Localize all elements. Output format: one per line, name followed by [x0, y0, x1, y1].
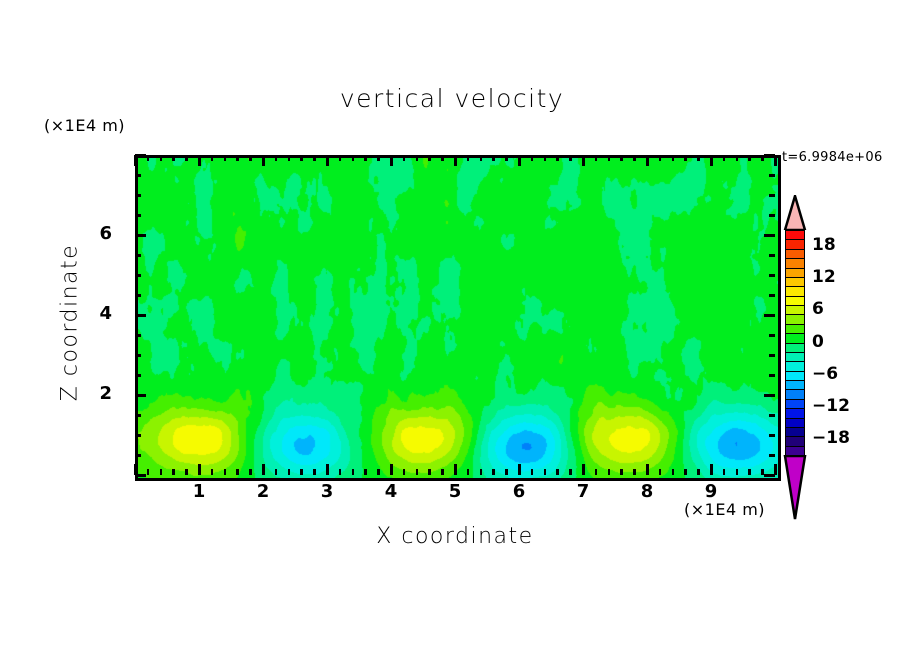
tick-mark: [764, 394, 775, 397]
tick-mark: [160, 155, 163, 161]
tick-mark: [288, 155, 291, 161]
tick-mark: [723, 155, 726, 161]
tick-mark: [135, 174, 141, 177]
tick-mark: [172, 469, 175, 475]
colorbar-tick-label: 6: [812, 299, 872, 319]
tick-mark: [769, 374, 775, 377]
tick-mark: [134, 155, 137, 166]
tick-mark: [377, 469, 380, 475]
colorbar-overflow-cap: [782, 195, 808, 230]
tick-mark: [659, 155, 662, 161]
x-tick-label: 6: [499, 481, 539, 502]
tick-mark: [646, 464, 649, 475]
tick-mark: [710, 464, 713, 475]
colorbar-underflow-cap: [782, 455, 808, 521]
tick-mark: [710, 155, 713, 166]
tick-mark: [428, 155, 431, 161]
tick-mark: [198, 464, 201, 475]
x-tick-label: 1: [179, 481, 219, 502]
tick-mark: [172, 155, 175, 161]
tick-mark: [569, 469, 572, 475]
tick-mark: [764, 154, 775, 157]
tick-mark: [569, 155, 572, 161]
tick-mark: [135, 434, 141, 437]
colorbar-tick-label: 0: [812, 332, 872, 352]
tick-mark: [748, 155, 751, 161]
tick-mark: [224, 155, 227, 161]
tick-mark: [769, 454, 775, 457]
tick-mark: [492, 469, 495, 475]
tick-mark: [185, 155, 188, 161]
tick-mark: [211, 155, 214, 161]
tick-mark: [505, 155, 508, 161]
tick-mark: [135, 254, 141, 257]
tick-mark: [467, 155, 470, 161]
tick-mark: [467, 469, 470, 475]
tick-mark: [736, 469, 739, 475]
time-annotation: t=6.9984e+06: [782, 150, 883, 165]
tick-mark: [764, 234, 775, 237]
tick-mark: [364, 155, 367, 161]
tick-mark: [620, 469, 623, 475]
tick-mark: [352, 469, 355, 475]
tick-mark: [185, 469, 188, 475]
tick-mark: [416, 155, 419, 161]
tick-mark: [633, 155, 636, 161]
tick-mark: [480, 469, 483, 475]
tick-mark: [390, 464, 393, 475]
tick-mark: [505, 469, 508, 475]
tick-mark: [723, 469, 726, 475]
tick-mark: [608, 155, 611, 161]
colorbar-tick-label: 12: [812, 267, 872, 287]
tick-mark: [441, 155, 444, 161]
tick-mark: [544, 155, 547, 161]
tick-mark: [300, 469, 303, 475]
tick-mark: [135, 394, 146, 397]
tick-mark: [364, 469, 367, 475]
tick-mark: [135, 474, 146, 477]
tick-mark: [135, 414, 141, 417]
tick-mark: [211, 469, 214, 475]
plot-area: [135, 155, 781, 481]
tick-mark: [697, 155, 700, 161]
tick-mark: [313, 469, 316, 475]
tick-mark: [769, 194, 775, 197]
tick-mark: [288, 469, 291, 475]
tick-mark: [518, 155, 521, 166]
tick-mark: [249, 469, 252, 475]
tick-mark: [135, 294, 141, 297]
tick-mark: [620, 155, 623, 161]
tick-mark: [582, 464, 585, 475]
colorbar: [782, 195, 808, 525]
tick-mark: [684, 155, 687, 161]
page-title: vertical velocity: [0, 84, 904, 113]
colorbar-tick-label: −6: [812, 364, 872, 384]
x-tick-label: 2: [243, 481, 283, 502]
tick-mark: [135, 454, 141, 457]
tick-mark: [135, 314, 146, 317]
tick-mark: [300, 155, 303, 161]
tick-mark: [774, 155, 777, 166]
tick-mark: [224, 469, 227, 475]
colorbar-tick-label: −12: [812, 396, 872, 416]
tick-mark: [390, 155, 393, 166]
tick-mark: [764, 474, 775, 477]
tick-mark: [556, 155, 559, 161]
tick-mark: [582, 155, 585, 166]
tick-mark: [441, 469, 444, 475]
tick-mark: [135, 214, 141, 217]
tick-mark: [492, 155, 495, 161]
tick-mark: [275, 155, 278, 161]
x-tick-label: 8: [627, 481, 667, 502]
contour-field: [138, 158, 778, 478]
tick-mark: [608, 469, 611, 475]
tick-mark: [160, 469, 163, 475]
y-axis-unit-label: (×1E4 m): [44, 116, 125, 135]
x-axis-unit-label: (×1E4 m): [684, 500, 765, 519]
tick-mark: [736, 155, 739, 161]
y-tick-label: 2: [78, 383, 112, 404]
tick-mark: [135, 334, 141, 337]
tick-mark: [769, 254, 775, 257]
tick-mark: [531, 469, 534, 475]
y-tick-label: 6: [78, 223, 112, 244]
tick-mark: [531, 155, 534, 161]
figure-root: vertical velocity (×1E4 m) t=6.9984e+06 …: [0, 0, 904, 654]
x-tick-label: 9: [691, 481, 731, 502]
tick-mark: [769, 334, 775, 337]
tick-mark: [595, 155, 598, 161]
tick-mark: [262, 155, 265, 166]
tick-mark: [672, 469, 675, 475]
tick-mark: [236, 155, 239, 161]
x-axis-title: X coordinate: [135, 524, 775, 549]
tick-mark: [769, 174, 775, 177]
tick-mark: [147, 469, 150, 475]
tick-mark: [684, 469, 687, 475]
tick-mark: [275, 469, 278, 475]
tick-mark: [659, 469, 662, 475]
x-tick-label: 7: [563, 481, 603, 502]
tick-mark: [595, 469, 598, 475]
tick-mark: [352, 155, 355, 161]
tick-mark: [764, 314, 775, 317]
tick-mark: [769, 274, 775, 277]
tick-mark: [769, 214, 775, 217]
colorbar-tick-label: −18: [812, 428, 872, 448]
tick-mark: [377, 155, 380, 161]
tick-mark: [339, 155, 342, 161]
tick-mark: [769, 294, 775, 297]
tick-mark: [769, 354, 775, 357]
tick-mark: [135, 354, 141, 357]
tick-mark: [646, 155, 649, 166]
tick-mark: [326, 155, 329, 166]
tick-mark: [480, 155, 483, 161]
tick-mark: [135, 274, 141, 277]
tick-mark: [748, 469, 751, 475]
y-tick-label: 4: [78, 303, 112, 324]
tick-mark: [198, 155, 201, 166]
tick-mark: [326, 464, 329, 475]
colorbar-tick-label: 18: [812, 235, 872, 255]
tick-mark: [147, 155, 150, 161]
tick-mark: [403, 155, 406, 161]
x-tick-label: 5: [435, 481, 475, 502]
tick-mark: [135, 154, 146, 157]
tick-mark: [672, 155, 675, 161]
tick-mark: [313, 155, 316, 161]
tick-mark: [454, 464, 457, 475]
tick-mark: [428, 469, 431, 475]
tick-mark: [416, 469, 419, 475]
tick-mark: [769, 434, 775, 437]
tick-mark: [697, 469, 700, 475]
tick-mark: [518, 464, 521, 475]
tick-mark: [633, 469, 636, 475]
tick-mark: [339, 469, 342, 475]
tick-mark: [135, 234, 146, 237]
tick-mark: [556, 469, 559, 475]
tick-mark: [249, 155, 252, 161]
x-tick-label: 3: [307, 481, 347, 502]
tick-mark: [262, 464, 265, 475]
tick-mark: [236, 469, 239, 475]
x-tick-label: 4: [371, 481, 411, 502]
tick-mark: [403, 469, 406, 475]
tick-mark: [135, 374, 141, 377]
tick-mark: [135, 194, 141, 197]
tick-mark: [454, 155, 457, 166]
tick-mark: [769, 414, 775, 417]
tick-mark: [544, 469, 547, 475]
